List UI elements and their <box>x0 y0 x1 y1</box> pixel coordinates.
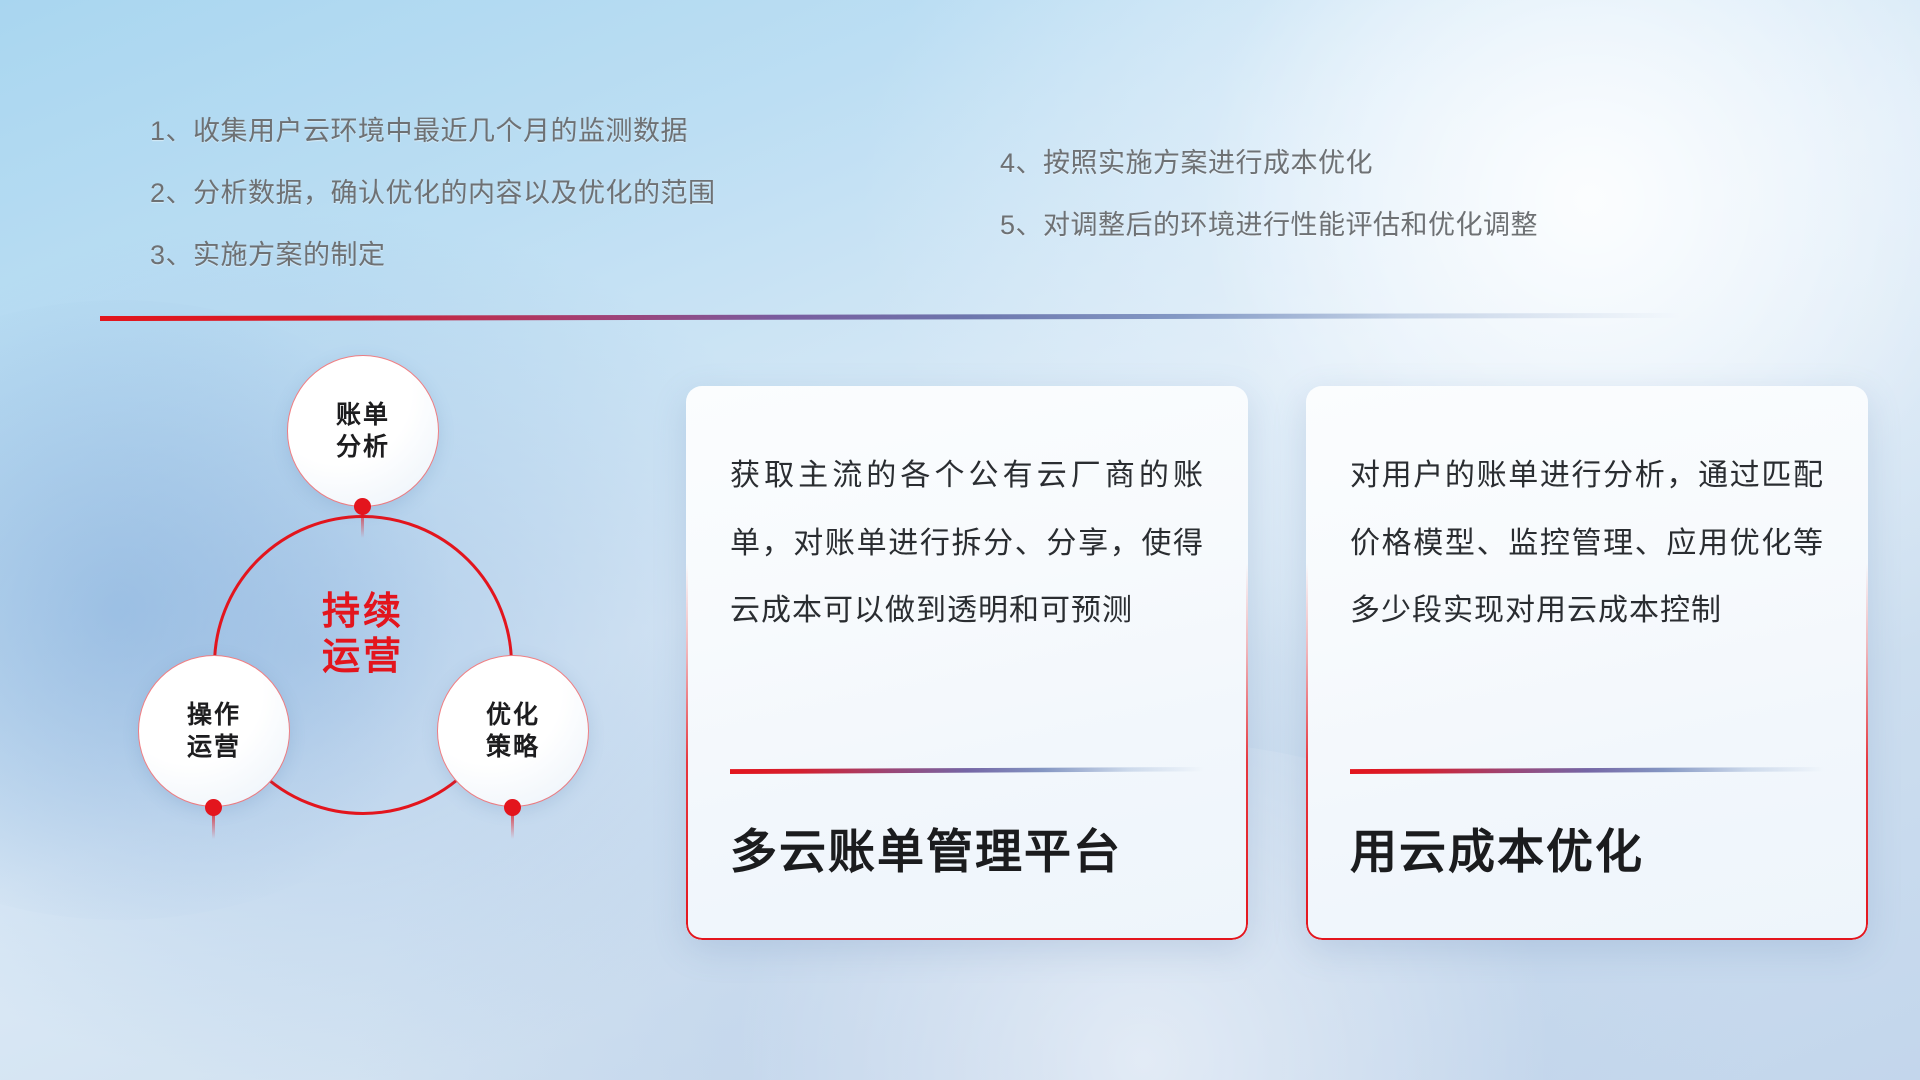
card-2-accent-rule <box>1350 767 1824 774</box>
card-1-title: 多云账单管理平台 <box>730 813 1122 882</box>
card-2-body: 对用户的账单进行分析，通过匹配价格模型、监控管理、应用优化等多少段实现对用云成本… <box>1350 442 1824 645</box>
card-2-title: 用云成本优化 <box>1350 813 1644 882</box>
slide-canvas: 1、收集用户云环境中最近几个月的监测数据 2、分析数据，确认优化的内容以及优化的… <box>0 0 1920 1080</box>
card-1-body: 获取主流的各个公有云厂商的账单，对账单进行拆分、分享，使得云成本可以做到透明和可… <box>730 442 1204 645</box>
diagram-node-operations-line2: 运营 <box>187 731 241 763</box>
card-1-accent-rule <box>730 767 1204 774</box>
card-multicloud-billing-platform[interactable]: 获取主流的各个公有云厂商的账单，对账单进行拆分、分享，使得云成本可以做到透明和可… <box>686 386 1248 940</box>
section-divider-line <box>100 313 1680 321</box>
diagram-node-optimization-strategy[interactable]: 优化 策略 <box>437 655 589 807</box>
diagram-node-optimization-strategy-line2: 策略 <box>486 731 540 763</box>
steps-right-column: 4、按照实施方案进行成本优化 5、对调整后的环境进行性能评估和优化调整 <box>1000 150 1538 239</box>
step-item-1: 1、收集用户云环境中最近几个月的监测数据 <box>150 118 716 145</box>
diagram-center-label-line1: 持续 <box>213 590 513 635</box>
diagram-dot-bottom-left <box>205 799 222 816</box>
step-item-5: 5、对调整后的环境进行性能评估和优化调整 <box>1000 212 1538 239</box>
card-cloud-cost-optimization[interactable]: 对用户的账单进行分析，通过匹配价格模型、监控管理、应用优化等多少段实现对用云成本… <box>1306 386 1868 940</box>
section-divider <box>100 313 1680 323</box>
diagram-node-bill-analysis-line2: 分析 <box>336 431 390 463</box>
diagram-node-optimization-strategy-line1: 优化 <box>486 699 540 731</box>
diagram-dot-bottom-right <box>504 799 521 816</box>
step-item-3: 3、实施方案的制定 <box>150 242 716 269</box>
diagram-dot-top <box>354 498 371 515</box>
diagram-node-operations-line1: 操作 <box>187 699 241 731</box>
cycle-diagram: 持续 运营 账单 分析 操作 运营 优化 策略 <box>100 355 660 955</box>
step-item-2: 2、分析数据，确认优化的内容以及优化的范围 <box>150 180 716 207</box>
diagram-node-bill-analysis-line1: 账单 <box>336 399 390 431</box>
step-item-4: 4、按照实施方案进行成本优化 <box>1000 150 1538 177</box>
steps-left-column: 1、收集用户云环境中最近几个月的监测数据 2、分析数据，确认优化的内容以及优化的… <box>150 118 716 269</box>
diagram-center-label: 持续 运营 <box>213 590 513 680</box>
diagram-node-bill-analysis[interactable]: 账单 分析 <box>287 355 439 507</box>
diagram-node-operations[interactable]: 操作 运营 <box>138 655 290 807</box>
